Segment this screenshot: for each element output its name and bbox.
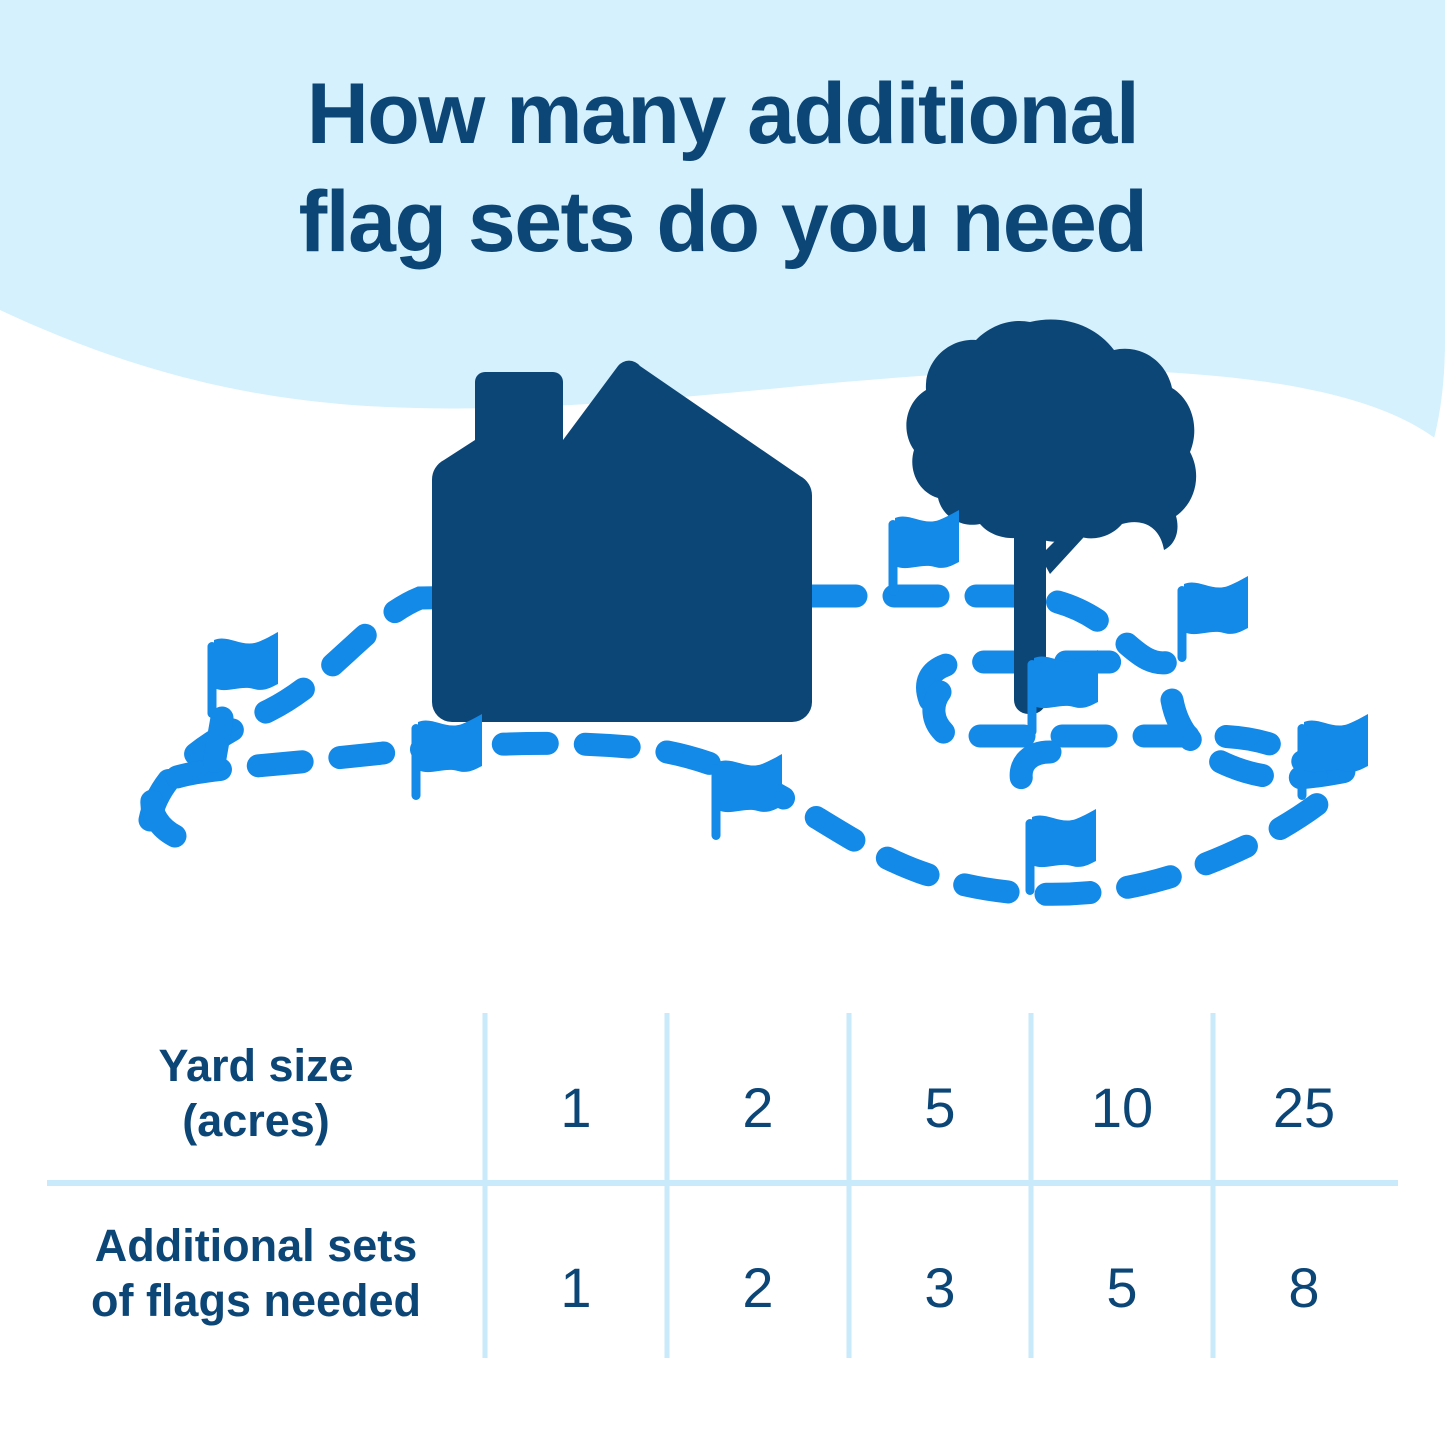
flag-icon	[889, 510, 960, 596]
infographic-canvas: How many additional flag sets do you nee…	[0, 0, 1445, 1445]
yard-illustration	[0, 300, 1445, 940]
flag-icon	[412, 714, 483, 800]
table-cell: 3	[849, 1260, 1031, 1316]
table-row-label-line-1: Yard size	[40, 1038, 472, 1093]
table-row-label-additional-sets: Additional sets of flags needed	[40, 1218, 472, 1328]
house-icon	[432, 361, 812, 722]
table-row-label-yard-size: Yard size (acres)	[40, 1038, 472, 1148]
page-title-line-2: flag sets do you need	[0, 168, 1445, 276]
table-cell: 2	[667, 1080, 849, 1136]
flag-icon	[1028, 650, 1099, 736]
page-title: How many additional flag sets do you nee…	[0, 60, 1445, 276]
table-cell: 1	[485, 1080, 667, 1136]
flag-sets-table: Yard size (acres) 1 2 5 10 25 Additional…	[0, 1010, 1445, 1370]
table-cell: 5	[1031, 1260, 1213, 1316]
table-row-label-line-1: Additional sets	[40, 1218, 472, 1273]
table-row-label-line-2: of flags needed	[40, 1273, 472, 1328]
table-cell: 1	[485, 1260, 667, 1316]
flag-icon	[712, 754, 783, 840]
table-cell: 2	[667, 1260, 849, 1316]
page-title-line-1: How many additional	[0, 60, 1445, 168]
table-cell: 8	[1213, 1260, 1395, 1316]
flag-icon	[1178, 576, 1249, 662]
table-cell: 5	[849, 1080, 1031, 1136]
table-row-label-line-2: (acres)	[40, 1093, 472, 1148]
table-cell: 10	[1031, 1080, 1213, 1136]
table-cell: 25	[1213, 1080, 1395, 1136]
